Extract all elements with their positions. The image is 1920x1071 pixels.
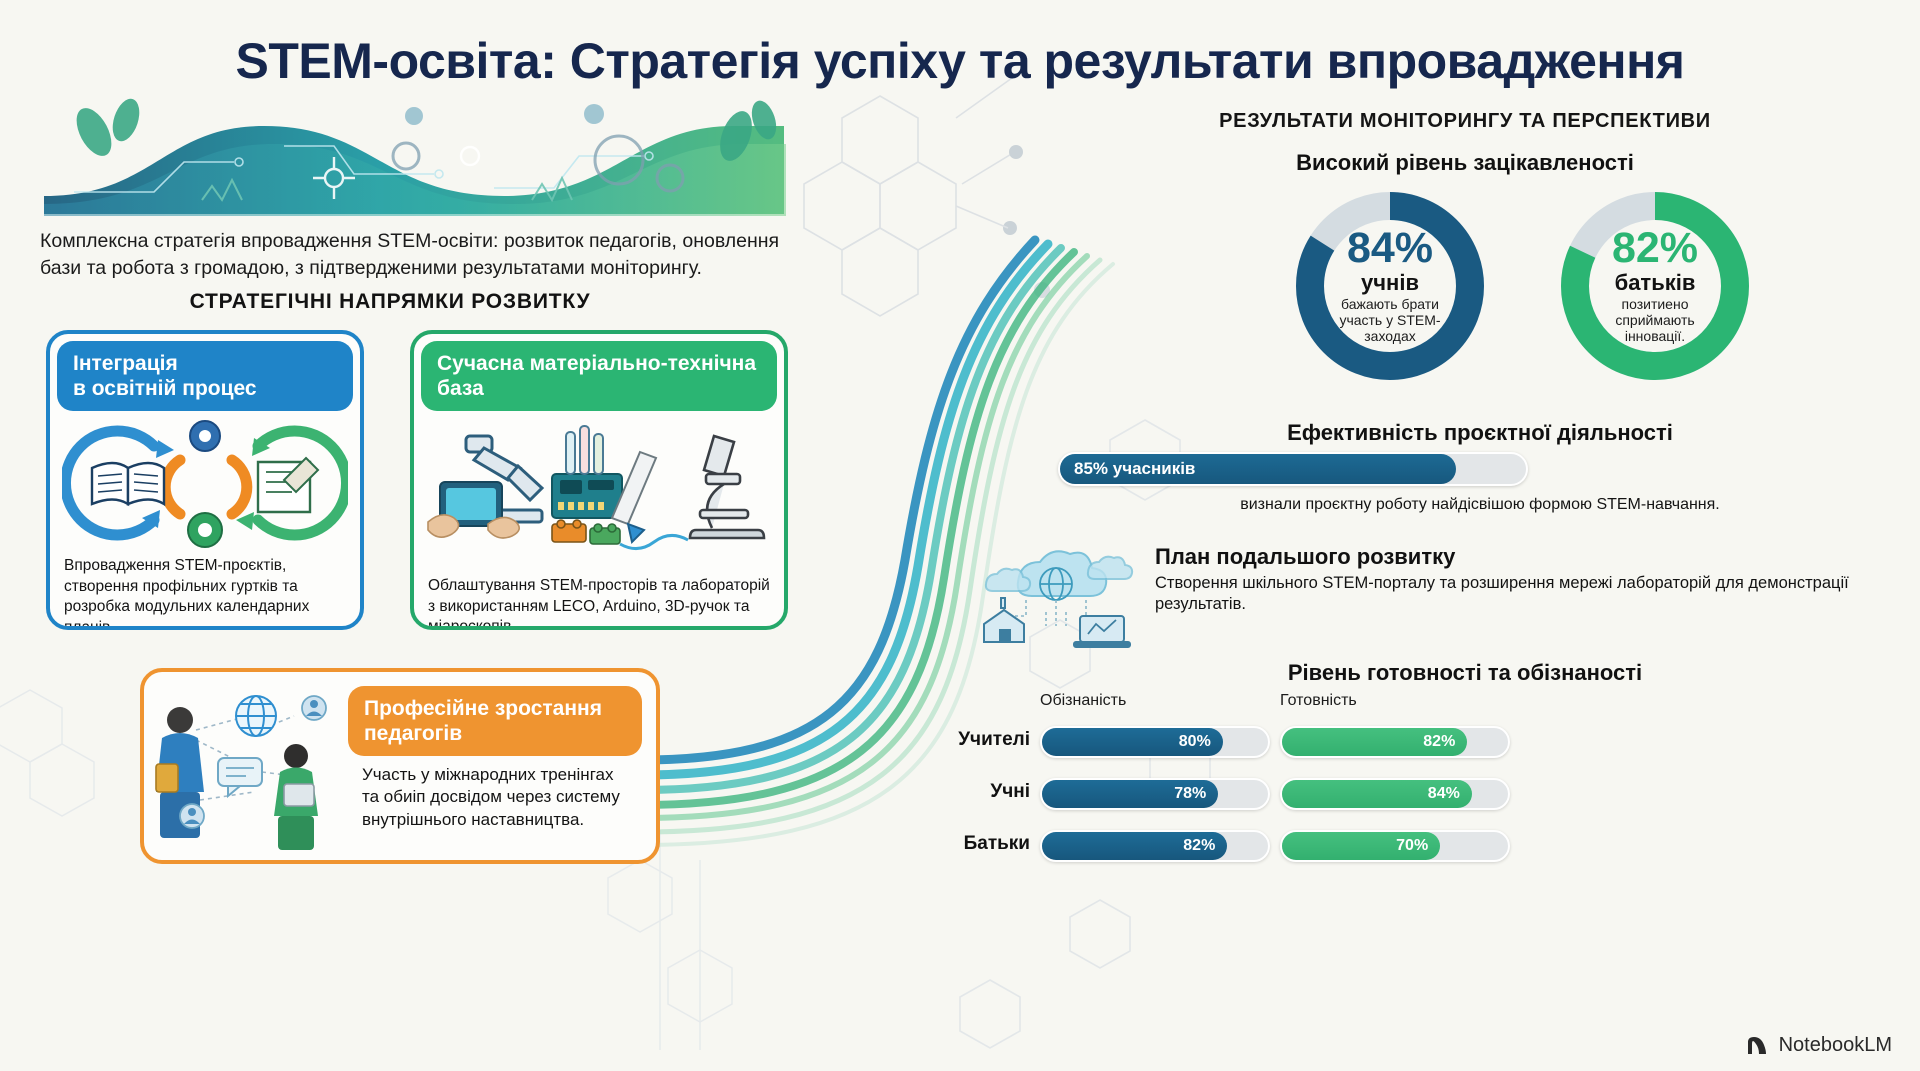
readiness-row-teachers: Учителі 80% 82% xyxy=(940,722,1920,770)
readiness-awareness-fill: 80% xyxy=(1042,728,1223,756)
donut-chart-students: 84% учнів бажають брати участь у STEM-за… xyxy=(1290,186,1490,386)
card-integration-title-line2: в освітній процес xyxy=(73,376,337,401)
effectiveness-note: визнали проєктну роботу найдісвішою форм… xyxy=(1040,496,1920,514)
readiness-column-readiness: Готовність xyxy=(1280,692,1357,710)
readiness-awareness-value: 78% xyxy=(1174,785,1206,803)
readiness-awareness-fill: 78% xyxy=(1042,780,1218,808)
donut-parents-description: позитиено сприймають інновації. xyxy=(1591,297,1719,345)
card-professional-growth-title-line1: Професійне зростання xyxy=(364,696,626,721)
readiness-row-parents: Батьки 82% 70% xyxy=(940,826,1920,874)
card-integration-header: Інтеграція в освітній процес xyxy=(57,341,353,411)
effectiveness-title: Ефективність проєктної діяльності xyxy=(1040,420,1920,446)
readiness-column-awareness: Обізнаність xyxy=(1040,692,1126,710)
readiness-readiness-value: 82% xyxy=(1423,733,1455,751)
readiness-readiness-fill: 70% xyxy=(1282,832,1440,860)
readiness-readiness-track: 70% xyxy=(1280,830,1510,862)
card-professional-growth-art xyxy=(144,672,344,860)
page-title: STEM-освіта: Стратегія успіху та результ… xyxy=(0,32,1920,90)
card-material-base-title-line2: база xyxy=(437,376,761,401)
cycle-illustration-icon xyxy=(62,418,348,548)
effectiveness-progress-track: 85% учасників xyxy=(1058,452,1528,486)
card-material-base: Сучасна матеріально-технічна база xyxy=(410,330,788,630)
readiness-column-headers: Обізнаність Готовність xyxy=(940,692,1920,718)
readiness-awareness-track: 78% xyxy=(1040,778,1270,810)
cloud-network-illustration-icon xyxy=(970,538,1140,648)
card-professional-growth: Професійне зростання педагогів Участь у … xyxy=(140,668,660,864)
card-material-base-title-line1: Сучасна матеріально-технічна xyxy=(437,351,761,376)
readiness-awareness-value: 82% xyxy=(1183,837,1215,855)
readiness-row-label: Учителі xyxy=(940,729,1030,751)
readiness-awareness-track: 80% xyxy=(1040,726,1270,758)
plan-text: Створення шкільного STEM-порталу та розш… xyxy=(1155,573,1915,616)
effectiveness-progress-label: 85% учасників xyxy=(1074,459,1195,479)
readiness-readiness-value: 70% xyxy=(1396,837,1428,855)
lab-equipment-illustration-icon xyxy=(424,418,774,568)
infographic-page: STEM-освіта: Стратегія успіху та результ… xyxy=(0,0,1920,1071)
effectiveness-progress-fill: 85% учасників xyxy=(1060,454,1456,484)
readiness-readiness-value: 84% xyxy=(1428,785,1460,803)
readiness-awareness-fill: 82% xyxy=(1042,832,1227,860)
strategy-section-heading: СТРАТЕГІЧНІ НАПРЯМКИ РОЗВИТКУ xyxy=(40,290,740,314)
plan-title: План подальшого розвитку xyxy=(1155,544,1455,570)
readiness-readiness-fill: 82% xyxy=(1282,728,1467,756)
donut-students-value: 84% xyxy=(1347,227,1433,271)
card-professional-growth-title-line2: педагогів xyxy=(364,721,626,746)
card-integration-body: Впровадження STEM-проєктів, створення пр… xyxy=(50,548,360,630)
readiness-readiness-track: 82% xyxy=(1280,726,1510,758)
notebooklm-footer: NotebookLM xyxy=(1745,1034,1892,1057)
donut-parents-subject: батьків xyxy=(1615,272,1696,294)
card-material-base-header: Сучасна матеріально-технічна база xyxy=(421,341,777,411)
readiness-chart: Обізнаність Готовність Учителі 80% 82% У… xyxy=(940,692,1920,874)
interest-level-heading: Високий рівень зацікавленості xyxy=(1010,150,1920,176)
donut-charts-group: 84% учнів бажають брати участь у STEM-за… xyxy=(1290,186,1920,386)
readiness-row-label: Учні xyxy=(940,781,1030,803)
hero-illustration xyxy=(34,96,794,226)
readiness-row-students: Учні 78% 84% xyxy=(940,774,1920,822)
card-integration-title-line1: Інтеграція xyxy=(73,351,337,376)
donut-students-subject: учнів xyxy=(1361,272,1419,294)
readiness-title: Рівень готовності та обізнаності xyxy=(1010,660,1920,686)
monitoring-results-heading: РЕЗУЛЬТАТИ МОНІТОРИНГУ ТА ПЕРСПЕКТИВИ xyxy=(1010,110,1920,133)
card-professional-growth-header: Професійне зростання педагогів xyxy=(348,686,642,756)
teachers-network-illustration-icon xyxy=(144,680,340,858)
card-material-base-body: Облаштування STEM-просторів та лаборатор… xyxy=(414,568,784,630)
readiness-readiness-track: 84% xyxy=(1280,778,1510,810)
donut-students-description: бажають брати участь у STEM-заходах xyxy=(1326,297,1454,345)
donut-chart-parents: 82% батьків позитиено сприймають інновац… xyxy=(1555,186,1755,386)
card-professional-growth-body: Участь у міжнародних тренінгах та обиіп … xyxy=(348,756,642,840)
notebooklm-brand-label: NotebookLM xyxy=(1779,1034,1892,1057)
donut-parents-value: 82% xyxy=(1612,227,1698,271)
notebooklm-logo-icon xyxy=(1745,1035,1771,1057)
readiness-awareness-value: 80% xyxy=(1179,733,1211,751)
readiness-readiness-fill: 84% xyxy=(1282,780,1472,808)
readiness-awareness-track: 82% xyxy=(1040,830,1270,862)
card-integration: Інтеграція в освітній процес xyxy=(46,330,364,630)
readiness-row-label: Батьки xyxy=(940,833,1030,855)
intro-paragraph: Комплексна стратегія впровадження STEM-о… xyxy=(40,228,800,282)
